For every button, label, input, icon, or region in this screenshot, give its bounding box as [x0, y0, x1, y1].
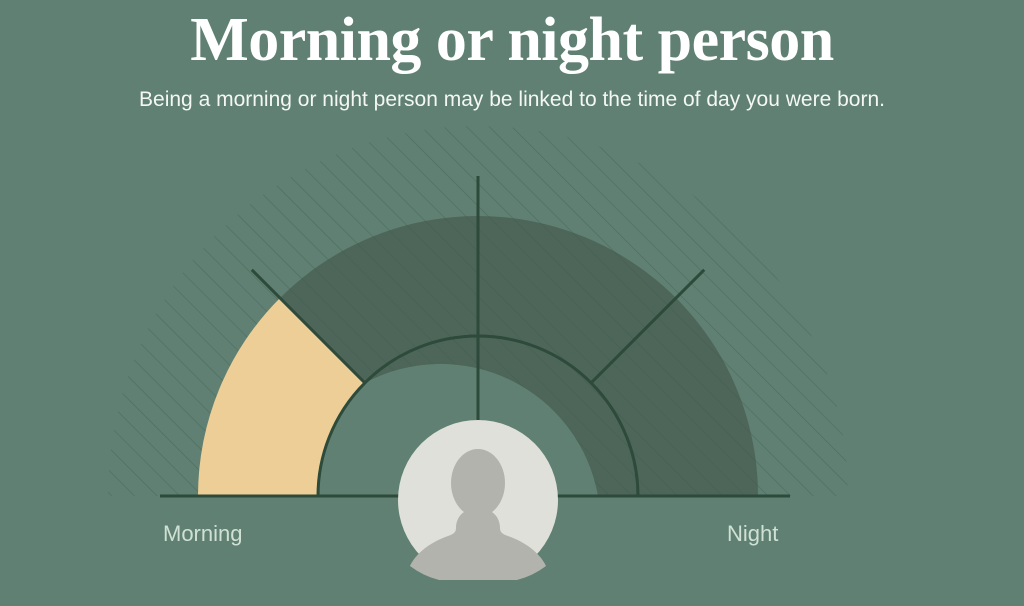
- header: Morning or night person Being a morning …: [0, 0, 1024, 112]
- person-avatar-icon: [398, 420, 558, 580]
- person-avatar-svg: [398, 420, 558, 580]
- axis-label-morning: Morning: [163, 521, 242, 547]
- page-subtitle: Being a morning or night person may be l…: [0, 87, 1024, 112]
- infographic-canvas: Morning or night person Being a morning …: [0, 0, 1024, 606]
- axis-label-night: Night: [727, 521, 778, 547]
- page-title: Morning or night person: [0, 0, 1024, 73]
